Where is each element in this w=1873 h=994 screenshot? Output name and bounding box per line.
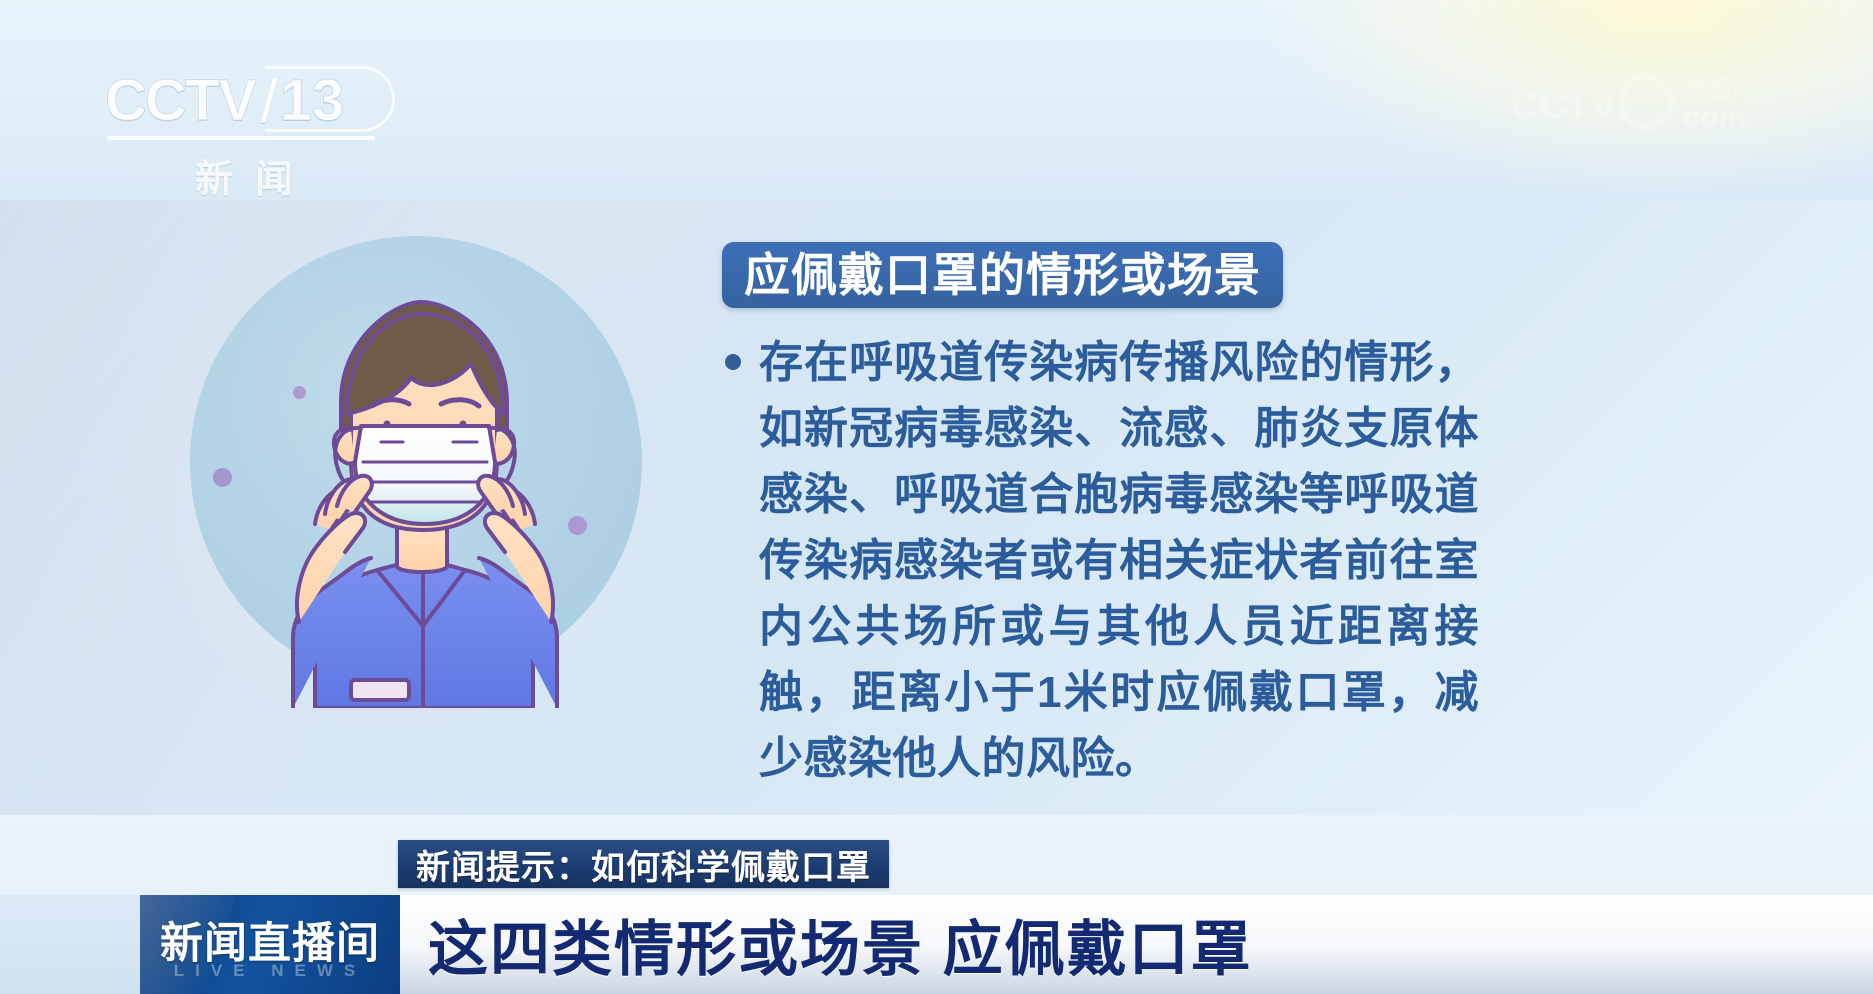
program-name-en-text: LIVE NEWS [154,961,386,981]
slide-bullet-item: 存在呼吸道传染病传播风险的情形，如新冠病毒感染、流感、肺炎支原体感染、呼吸道合胞… [725,330,1485,792]
watermark-domain: com [1684,103,1756,133]
cctv-channel-subtitle: 新闻 [145,148,365,203]
lower-third-ticker: 新闻直播间 LIVE NEWS 这四类情形或场景 应佩戴口罩 [0,895,1873,994]
cctv-wordmark: CCTV [105,72,255,130]
cctv-logo-capsule-outline [265,66,395,132]
program-logo-block: 新闻直播间 LIVE NEWS [140,895,400,994]
cctv-logo-row: CCTV / 13 [105,70,395,132]
slide-title-banner: 应佩戴口罩的情形或场景 [722,242,1283,308]
headline-bar: 这四类情形或场景 应佩戴口罩 [400,895,1873,994]
bullet-point-icon [725,354,741,370]
news-tip-text: 新闻提示：如何科学佩戴口罩 [416,840,871,889]
watermark-text-group: 央视网 com [1684,78,1756,133]
person-wearing-mask-illustration [165,218,665,708]
cctv13-channel-logo: CCTV / 13 新闻 [105,70,395,190]
watermark-ring-icon [1618,74,1674,130]
mask-person-figure [165,218,665,708]
headline-text: 这四类情形或场景 应佩戴口罩 [428,901,1253,988]
cctv-com-watermark: CCTV 央视网 com [1511,62,1811,148]
broadcast-screen: CCTV / 13 新闻 CCTV 央视网 com [0,0,1873,994]
news-tip-banner: 新闻提示：如何科学佩戴口罩 [398,840,889,888]
slide-bullet-text: 存在呼吸道传染病传播风险的情形，如新冠病毒感染、流感、肺炎支原体感染、呼吸道合胞… [759,330,1479,792]
slide-title-text: 应佩戴口罩的情形或场景 [744,252,1261,298]
watermark-brand-text: CCTV [1511,83,1616,128]
cctv-logo-underline [107,136,375,140]
ticker-left-filler [0,895,140,994]
watermark-cn-name: 央视网 [1684,78,1756,100]
